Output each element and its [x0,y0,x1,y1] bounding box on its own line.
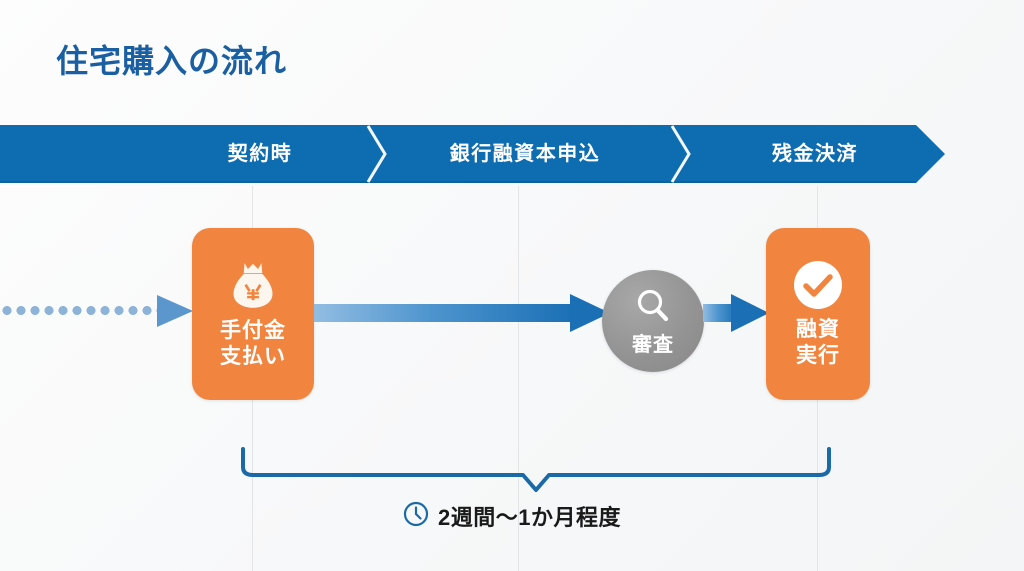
money-bag-yen-icon [226,258,280,312]
flow-node-loan-execution-label: 融資 実行 [796,317,840,368]
connector-deposit-to-screening [314,304,576,322]
magnifier-icon [633,286,673,326]
phase-step-1-label[interactable]: 契約時 [150,125,370,183]
slide-canvas: 住宅購入の流れ 契約時 銀行融資本申込 残金決済 [0,0,1024,571]
incoming-arrowhead-icon [155,291,195,331]
flow-node-screening-label: 審査 [632,328,674,357]
phase-step-2-label[interactable]: 銀行融資本申込 [390,125,660,183]
clock-icon [403,501,429,532]
duration-bracket [240,445,832,498]
incoming-dotted-connector [0,306,168,315]
phase-step-3-label[interactable]: 残金決済 [700,125,930,183]
duration-label: 2週間〜1か月程度 [438,500,621,532]
flow-node-deposit[interactable]: 手付金 支払い [192,228,314,400]
connector-screening-to-loan-head-icon [731,288,771,343]
flow-node-loan-execution[interactable]: 融資 実行 [766,228,870,400]
check-circle-icon [792,259,844,311]
flow-node-deposit-label: 手付金 支払い [220,318,286,369]
flow-node-screening[interactable]: 審査 [602,270,704,372]
duration-caption: 2週間〜1か月程度 [0,500,1024,532]
page-title: 住宅購入の流れ [56,36,287,82]
